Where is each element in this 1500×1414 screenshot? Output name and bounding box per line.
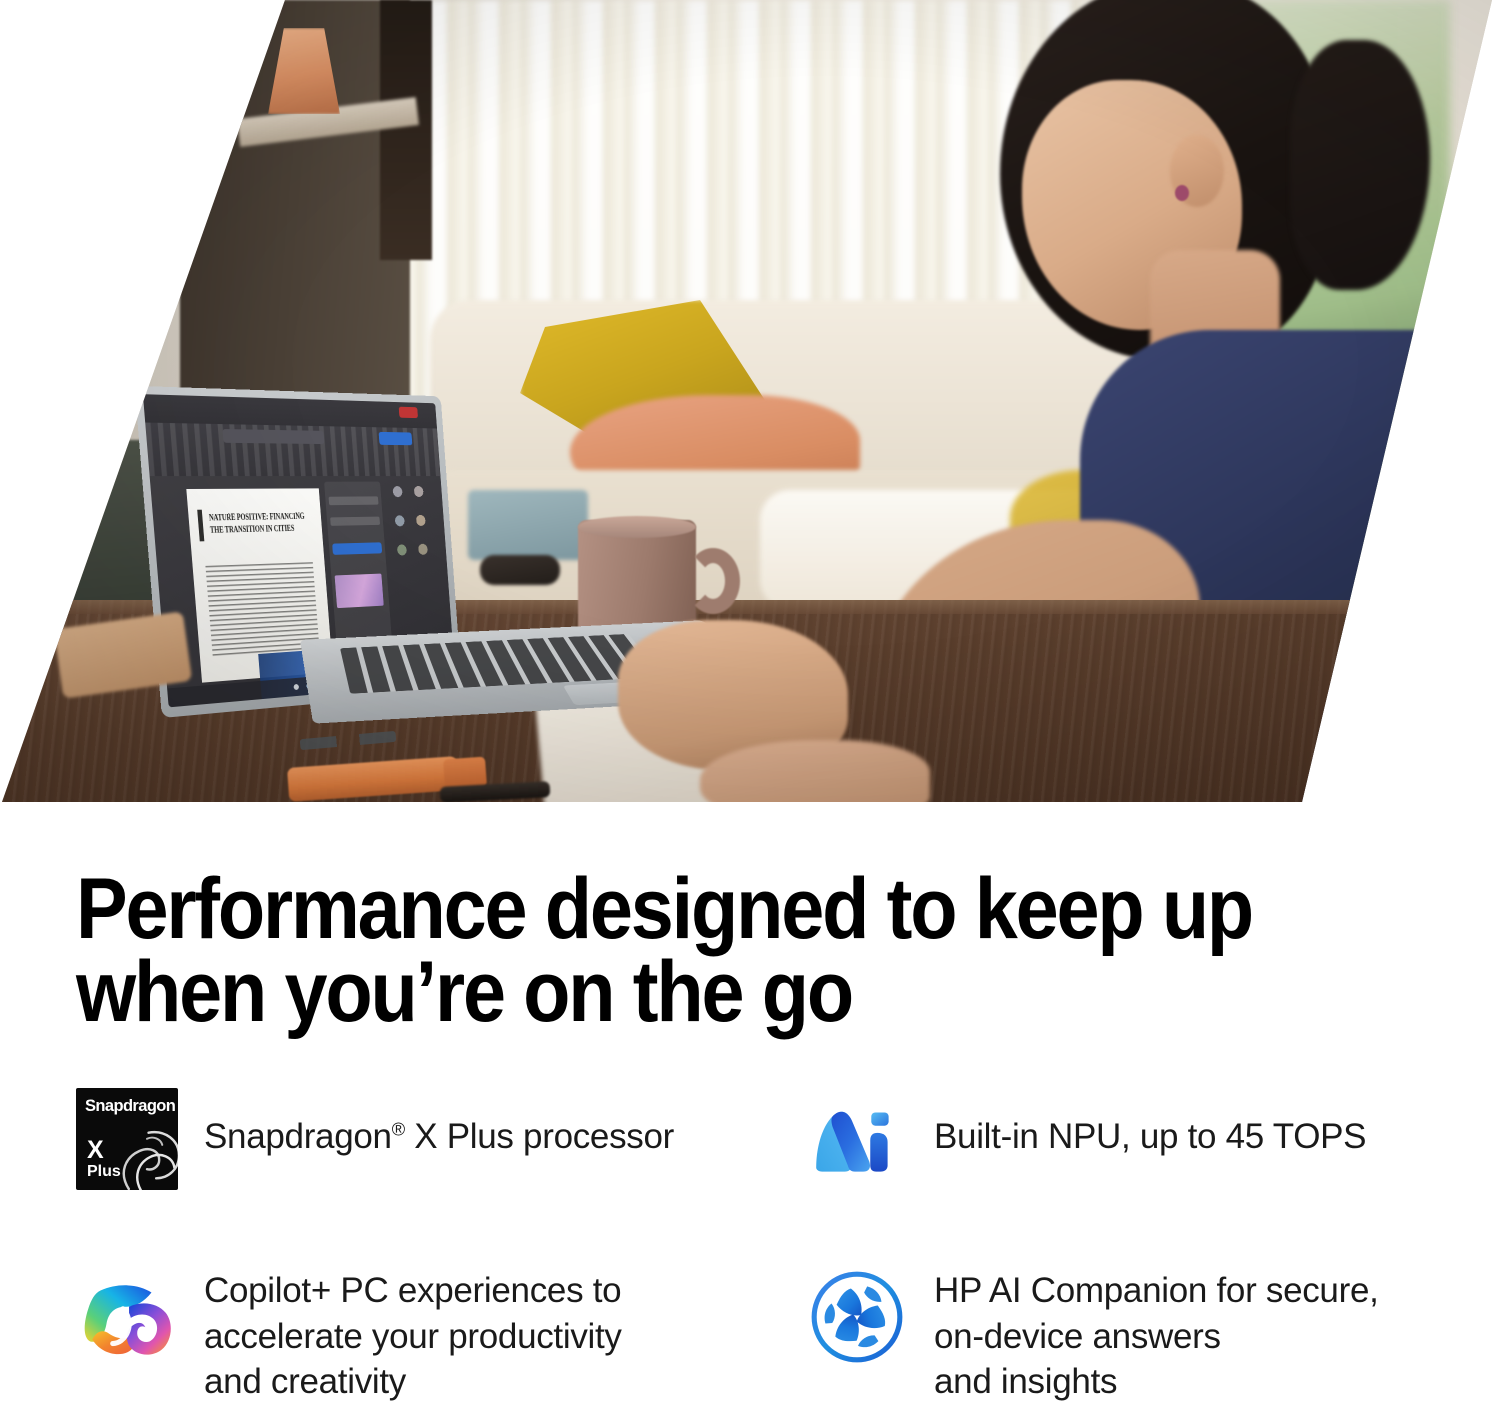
feature-label-line: accelerate your productivity — [204, 1314, 622, 1360]
snapdragon-tier: X — [87, 1138, 104, 1163]
hero-scene: NATURE POSITIVE: FINANCING THE TRANSITIO… — [0, 0, 1500, 802]
screen-panel-row — [330, 516, 381, 526]
feature-label-line: and creativity — [204, 1359, 622, 1405]
feature-snapdragon-processor: Snapdragon X Plus Snapdragon® X Plus pro… — [76, 1088, 736, 1190]
feature-copilot-pc: Copilot+ PC experiences to accelerate yo… — [76, 1266, 736, 1405]
feature-npu: Built-in NPU, up to 45 TOPS — [806, 1088, 1466, 1190]
screen-accent-button — [379, 432, 412, 445]
feature-label-line: and insights — [934, 1359, 1379, 1405]
coffee-mug-handle — [686, 548, 740, 614]
doorway-dark — [380, 0, 432, 260]
feature-label: HP AI Companion for secure, on-device an… — [934, 1266, 1379, 1405]
headline-line-2: when you’re on the go — [76, 951, 1282, 1034]
hp-ai-companion-pinwheel-icon — [806, 1266, 908, 1368]
registered-trademark-icon: ® — [392, 1119, 405, 1139]
product-feature-panel: NATURE POSITIVE: FINANCING THE TRANSITIO… — [0, 0, 1500, 1414]
screen-search-bar — [222, 429, 324, 444]
snapdragon-label-suffix: X Plus processor — [405, 1117, 674, 1156]
remote-control — [480, 555, 560, 585]
ai-npu-icon — [806, 1088, 908, 1190]
feature-label: Snapdragon® X Plus processor — [204, 1088, 674, 1160]
screen-participant-avatars — [385, 479, 437, 570]
feature-label-line: Copilot+ PC experiences to — [204, 1268, 622, 1314]
feature-label-line: on-device answers — [934, 1314, 1379, 1360]
snapdragon-wordmark: Snapdragon — [85, 1097, 175, 1116]
screen-cta-button — [332, 542, 383, 555]
headline-line-1: Performance designed to keep up — [76, 868, 1282, 951]
screen-record-button — [399, 406, 418, 418]
ai-lettermark-icon — [806, 1088, 908, 1190]
page-headline: Performance designed to keep up when you… — [76, 868, 1282, 1035]
teal-box — [468, 490, 588, 560]
feature-label-line: Built-in NPU, up to 45 TOPS — [934, 1114, 1366, 1160]
screen-thumbnail — [334, 574, 383, 608]
screen-document-title: NATURE POSITIVE: FINANCING THE TRANSITIO… — [208, 510, 312, 537]
screen-panel-row — [328, 496, 379, 505]
person-earring — [1175, 185, 1189, 201]
snapdragon-label-prefix: Snapdragon — [204, 1117, 392, 1156]
hp-ai-companion-icon — [806, 1266, 908, 1368]
snapdragon-dragon-swirl — [106, 1116, 178, 1190]
copilot-icon — [76, 1266, 178, 1368]
feature-hp-ai-companion: HP AI Companion for secure, on-device an… — [806, 1266, 1466, 1405]
snapdragon-badge: Snapdragon X Plus — [76, 1088, 178, 1190]
snapdragon-badge-icon: Snapdragon X Plus — [76, 1088, 178, 1190]
feature-label-line: Snapdragon® X Plus processor — [204, 1114, 674, 1160]
feature-label: Built-in NPU, up to 45 TOPS — [934, 1088, 1366, 1160]
hero-photo: NATURE POSITIVE: FINANCING THE TRANSITIO… — [0, 0, 1500, 802]
feature-label-line: HP AI Companion for secure, — [934, 1268, 1379, 1314]
screen-side-panel — [324, 482, 392, 652]
feature-label: Copilot+ PC experiences to accelerate yo… — [204, 1266, 622, 1405]
copilot-swirl-icon — [76, 1266, 178, 1368]
coffee-mug-rim — [578, 516, 696, 538]
